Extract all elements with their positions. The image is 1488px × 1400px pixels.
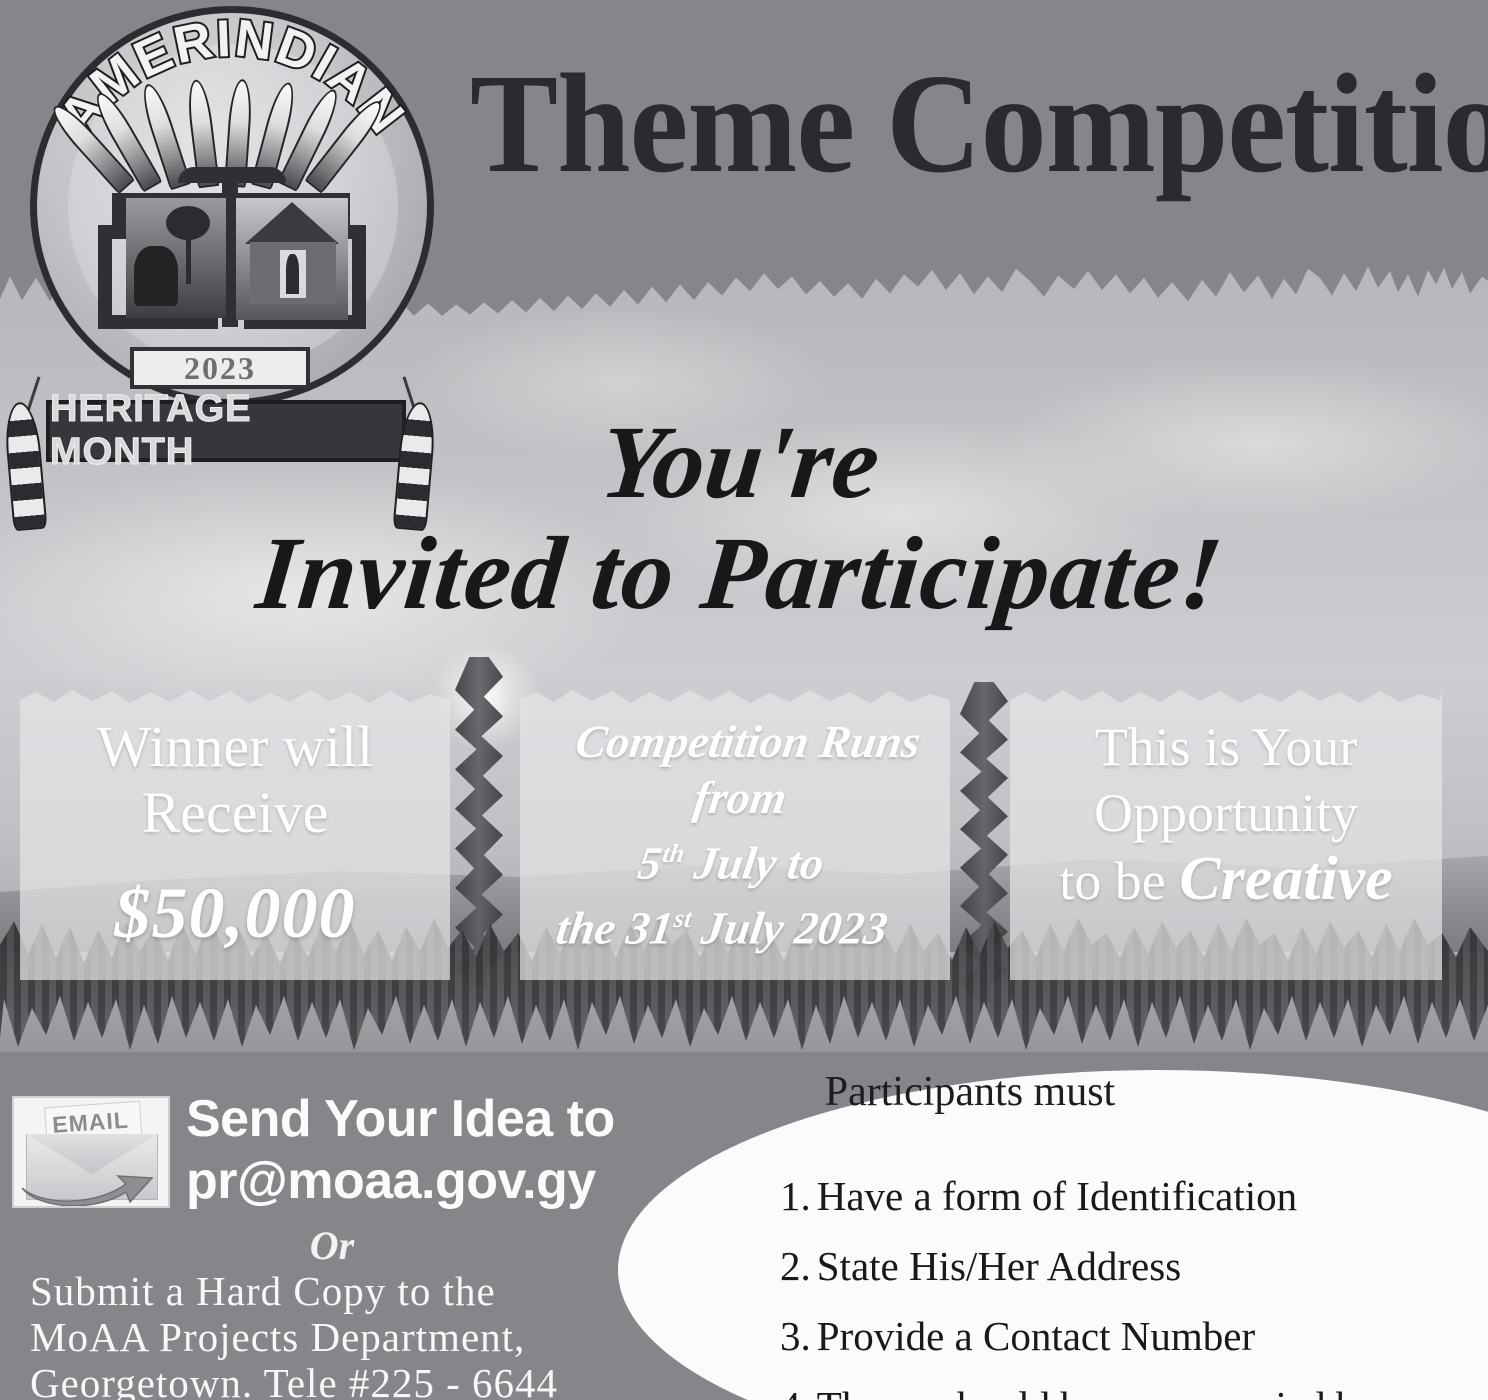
- logo-nature-photo: [126, 198, 226, 318]
- poster-root: AMERINDIAN: [0, 0, 1488, 1400]
- list-item: 4.Theme should be accompanied by a brief…: [780, 1371, 1488, 1400]
- dates-line-3: 5th July to: [555, 826, 908, 891]
- amerindian-heritage-logo: AMERINDIAN: [8, 2, 438, 477]
- list-item-number: 4.: [780, 1383, 811, 1400]
- list-item-text: Have a form of Identification: [817, 1173, 1297, 1219]
- opportunity-line-3: to be Creative: [1059, 846, 1392, 914]
- prize-heading-line-2: Receive: [97, 780, 373, 846]
- list-item: 1.Have a form of Identification: [780, 1161, 1488, 1231]
- list-item-number: 3.: [780, 1313, 811, 1359]
- panel-dates: Competition Runs from 5th July to the 31…: [520, 690, 950, 980]
- list-item-text: State His/Her Address: [817, 1243, 1181, 1289]
- opportunity-line-3-pre: to be: [1059, 851, 1179, 911]
- dates-line-1: Competition Runs: [572, 714, 924, 770]
- hardcopy-line-1: Submit a Hard Copy to the: [30, 1268, 650, 1314]
- panel-prize: Winner will Receive $50,000: [20, 690, 450, 980]
- dates-line-2: from: [564, 770, 916, 826]
- page-title: Theme Competition: [470, 48, 1409, 198]
- requirements-heading: Participants must: [620, 1068, 1320, 1116]
- dates-line-4: the 31st July 2023: [546, 891, 899, 956]
- logo-year-plate: 2023: [130, 347, 310, 389]
- invite-line-1: You're: [244, 408, 1236, 518]
- list-item: 2.State His/Her Address: [780, 1231, 1488, 1301]
- prize-heading-line-1: Winner will: [97, 714, 373, 780]
- list-item: 3.Provide a Contact Number: [780, 1301, 1488, 1371]
- hardcopy-line-2: MoAA Projects Department,: [30, 1314, 650, 1360]
- invite-line-2: Invited to Participate!: [244, 518, 1236, 630]
- panel-opportunity: This is Your Opportunity to be Creative: [1010, 690, 1442, 980]
- hardcopy-line-3: Georgetown. Tele #225 - 6644: [30, 1360, 650, 1400]
- list-item-number: 2.: [780, 1243, 811, 1289]
- logo-year-label: 2023: [184, 350, 256, 387]
- or-separator: Or: [12, 1222, 652, 1269]
- email-instruction: Send Your Idea to pr@moaa.gov.gy: [186, 1088, 656, 1212]
- send-idea-label: Send Your Idea to: [186, 1088, 656, 1150]
- dates-start-rest: July to: [680, 837, 828, 888]
- list-item-text: Provide a Contact Number: [817, 1313, 1255, 1359]
- prize-amount: $50,000: [115, 872, 356, 955]
- hardcopy-instruction: Submit a Hard Copy to the MoAA Projects …: [30, 1268, 650, 1400]
- opportunity-emphasis: Creative: [1179, 845, 1393, 913]
- email-icon: EMAIL: [12, 1096, 170, 1208]
- email-address[interactable]: pr@moaa.gov.gy: [186, 1150, 656, 1212]
- opportunity-line-2: Opportunity: [1059, 780, 1392, 846]
- opportunity-line-1: This is Your: [1059, 714, 1392, 780]
- list-item-number: 1.: [780, 1173, 811, 1219]
- dates-end-pre: the 31: [553, 903, 676, 954]
- requirements-list: 1.Have a form of Identification 2.State …: [740, 1161, 1488, 1400]
- email-submission-row: EMAIL Send Your Idea to pr@moaa.gov.gy: [12, 1096, 652, 1226]
- dates-end-rest: July 2023: [687, 903, 891, 954]
- logo-benab-photo: [236, 198, 348, 320]
- invitation-block: You're Invited to Participate!: [250, 408, 1230, 630]
- list-item-text: Theme should be accompanied by a brief: [780, 1383, 1405, 1400]
- send-arrow-icon: [18, 1158, 160, 1208]
